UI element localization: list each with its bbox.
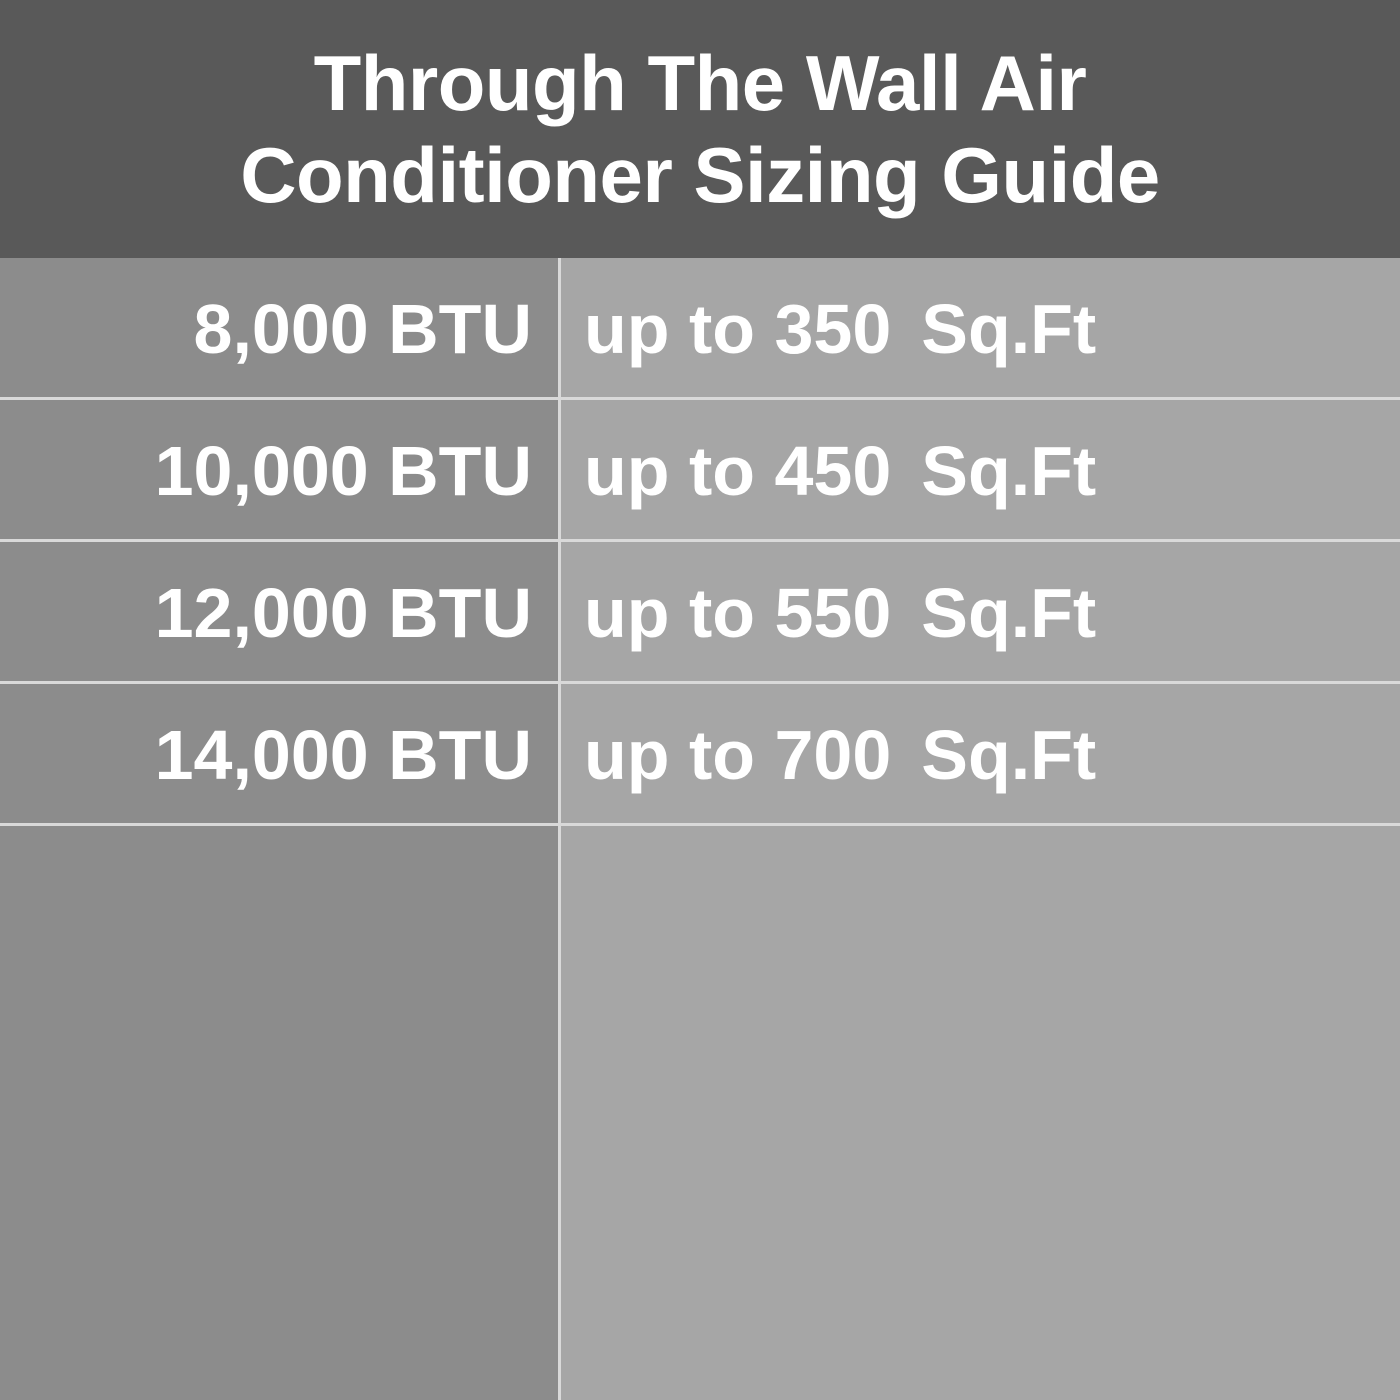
title-band: Through The Wall Air Conditioner Sizing … [0,0,1400,258]
page-title: Through The Wall Air Conditioner Sizing … [160,37,1240,221]
area-unit: Sq.Ft [891,715,1096,795]
btu-cell: 14,000 BTU [0,684,558,826]
table-row: 8,000 BTU up to 350 Sq.Ft [0,258,1400,400]
empty-table-area [0,826,1400,1400]
area-cell: up to 700 Sq.Ft [558,684,1400,826]
sizing-table: 8,000 BTU up to 350 Sq.Ft 10,000 BTU up … [0,258,1400,826]
table-row: 14,000 BTU up to 700 Sq.Ft [0,684,1400,826]
sizing-guide-card: Through The Wall Air Conditioner Sizing … [0,0,1400,1400]
area-value: up to 700 [584,715,891,795]
table-row: 10,000 BTU up to 450 Sq.Ft [0,400,1400,542]
area-value: up to 350 [584,289,891,369]
area-unit: Sq.Ft [891,573,1096,653]
btu-cell: 12,000 BTU [0,542,558,684]
area-cell: up to 350 Sq.Ft [558,258,1400,400]
area-unit: Sq.Ft [891,431,1096,511]
area-cell: up to 450 Sq.Ft [558,400,1400,542]
area-cell: up to 550 Sq.Ft [558,542,1400,684]
btu-cell: 8,000 BTU [0,258,558,400]
table-row: 12,000 BTU up to 550 Sq.Ft [0,542,1400,684]
btu-cell: 10,000 BTU [0,400,558,542]
area-value: up to 450 [584,431,891,511]
area-unit: Sq.Ft [891,289,1096,369]
area-value: up to 550 [584,573,891,653]
